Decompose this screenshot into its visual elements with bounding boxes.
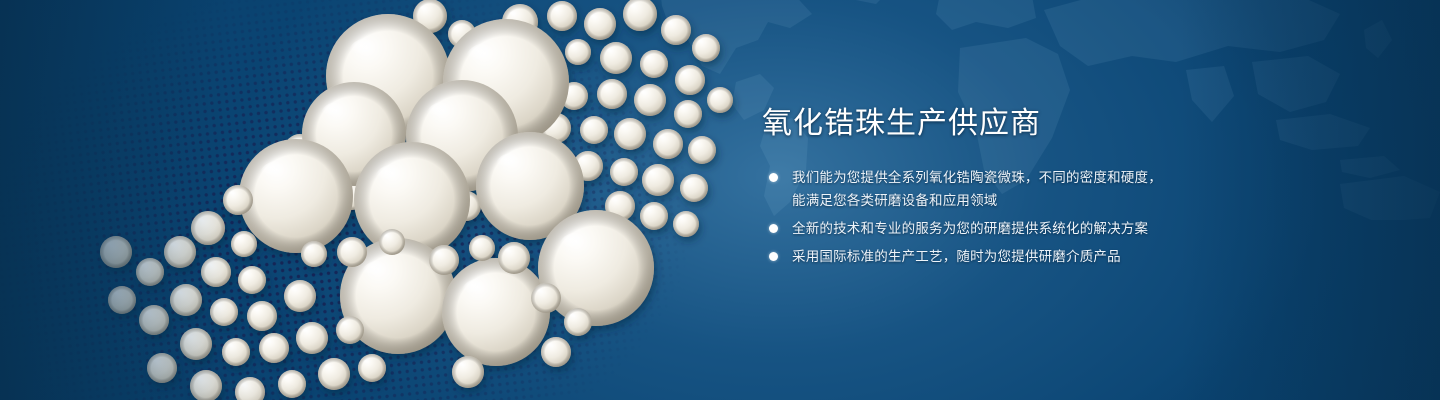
feature-list: 我们能为您提供全系列氧化锆陶瓷微珠，不同的密度和硬度， 能满足您各类研磨设备和应… — [762, 166, 1232, 268]
feature-item-3: 采用国际标准的生产工艺，随时为您提供研磨介质产品 — [762, 245, 1232, 268]
hero-banner: 氧化锆珠生产供应商 我们能为您提供全系列氧化锆陶瓷微珠，不同的密度和硬度， 能满… — [0, 0, 1440, 400]
bullet-circle-icon — [769, 224, 778, 233]
feature-item-1-line-2: 能满足您各类研磨设备和应用领域 — [792, 189, 1232, 212]
bullet-circle-icon — [769, 252, 778, 261]
feature-item-2: 全新的技术和专业的服务为您的研磨提供系统化的解决方案 — [762, 217, 1232, 240]
banner-copy: 氧化锆珠生产供应商 我们能为您提供全系列氧化锆陶瓷微珠，不同的密度和硬度， 能满… — [762, 104, 1232, 273]
feature-item-1: 我们能为您提供全系列氧化锆陶瓷微珠，不同的密度和硬度， 能满足您各类研磨设备和应… — [762, 166, 1232, 212]
bullet-circle-icon — [769, 173, 778, 182]
banner-headline: 氧化锆珠生产供应商 — [762, 104, 1232, 144]
feature-item-2-line-1: 全新的技术和专业的服务为您的研磨提供系统化的解决方案 — [792, 217, 1232, 240]
feature-item-1-line-1: 我们能为您提供全系列氧化锆陶瓷微珠，不同的密度和硬度， — [792, 166, 1232, 189]
feature-item-3-line-1: 采用国际标准的生产工艺，随时为您提供研磨介质产品 — [792, 245, 1232, 268]
